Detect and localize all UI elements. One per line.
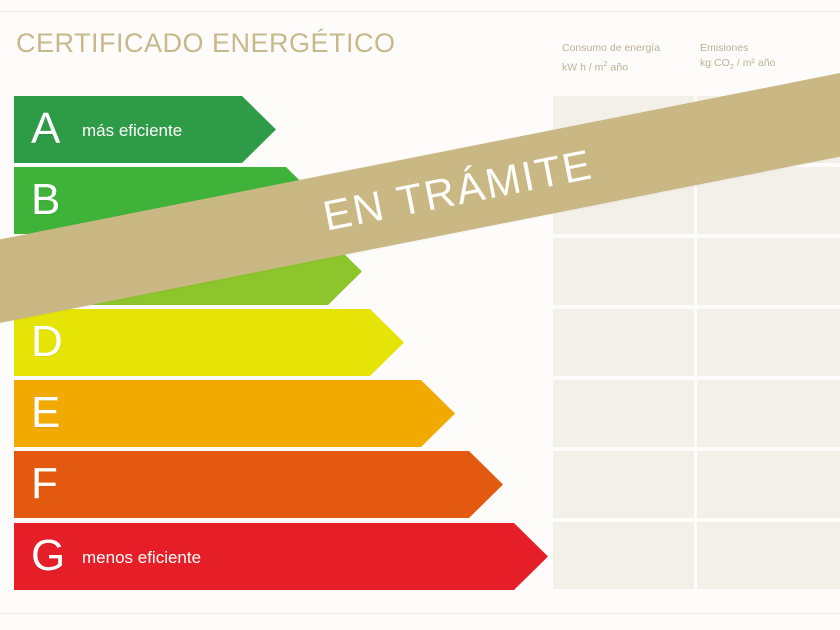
table-cell-c-emisiones [697,238,840,305]
rating-letter-f: F [31,462,58,506]
energy-certificate-label: CERTIFICADO ENERGÉTICO Consumo de energí… [0,0,840,630]
rating-caption-a: más eficiente [82,120,182,140]
table-cell-c-consumo [553,238,694,305]
column-header-emisiones-line2: kg CO2 / m² año [700,56,775,74]
rating-bar-e: E [14,380,455,447]
table-cell-g-consumo [553,522,694,589]
rating-bar-g: Gmenos eficiente [14,523,548,590]
rating-letter-g: G [31,534,65,578]
table-cell-f-emisiones [697,451,840,518]
rating-bar-f: F [14,451,503,518]
table-cell-e-emisiones [697,380,840,447]
table-cell-e-consumo [553,380,694,447]
table-cell-d-emisiones [697,309,840,376]
rating-letter-b: B [31,178,60,222]
rating-caption-g: menos eficiente [82,547,201,567]
column-header-emisiones: Emisiones kg CO2 / m² año [700,41,775,74]
bottom-divider [0,613,840,614]
column-header-consumo-line2: kW h / m2 año [562,56,660,76]
table-cell-g-emisiones [697,522,840,589]
rating-bar-d: D [14,309,404,376]
column-header-consumo: Consumo de energía kW h / m2 año [562,41,660,76]
rating-letter-a: A [31,107,60,151]
table-cell-d-consumo [553,309,694,376]
table-cell-f-consumo [553,451,694,518]
rating-bar-shape-f [14,451,503,518]
rating-letter-e: E [31,391,60,435]
rating-bar-shape-d [14,309,404,376]
column-header-consumo-line1: Consumo de energía [562,42,660,54]
page-title: CERTIFICADO ENERGÉTICO [16,28,396,59]
rating-bar-shape-e [14,380,455,447]
top-divider [0,11,840,12]
rating-letter-d: D [31,320,63,364]
rating-bar-a: Amás eficiente [14,96,276,163]
column-header-emisiones-line1: Emisiones [700,42,748,54]
